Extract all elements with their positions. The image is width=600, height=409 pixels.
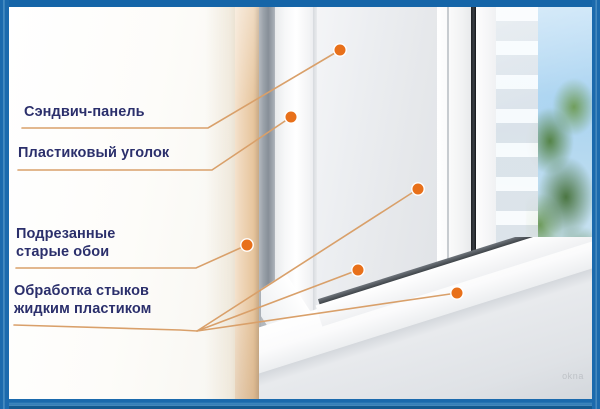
callout-dot-joint-1[interactable] [412, 183, 424, 195]
leader-line-joint-branch-1 [197, 189, 418, 331]
callout-dot-plastic-corner[interactable] [285, 111, 297, 123]
leader-line-joint-base [14, 325, 197, 331]
callout-dot-sandwich-panel[interactable] [334, 44, 346, 56]
callout-dots-group [241, 44, 463, 299]
callout-dot-joint-3[interactable] [451, 287, 463, 299]
callout-overlay [0, 0, 600, 409]
callout-label-sandwich-panel: Сэндвич-панель [24, 104, 145, 122]
callout-dot-joint-2[interactable] [352, 264, 364, 276]
leader-line-joint-branch-3 [197, 293, 457, 331]
callout-lines-svg [0, 0, 600, 409]
callout-label-plastic-corner: Пластиковый уголок [18, 145, 169, 163]
callout-label-joint-liquid-plastic: Обработка стыков жидким пластиком [14, 283, 152, 318]
callout-dot-trimmed-wallpaper[interactable] [241, 239, 253, 251]
screenshot-root: okna [0, 0, 600, 409]
callout-label-trimmed-wallpaper: Подрезанные старые обои [16, 226, 115, 261]
